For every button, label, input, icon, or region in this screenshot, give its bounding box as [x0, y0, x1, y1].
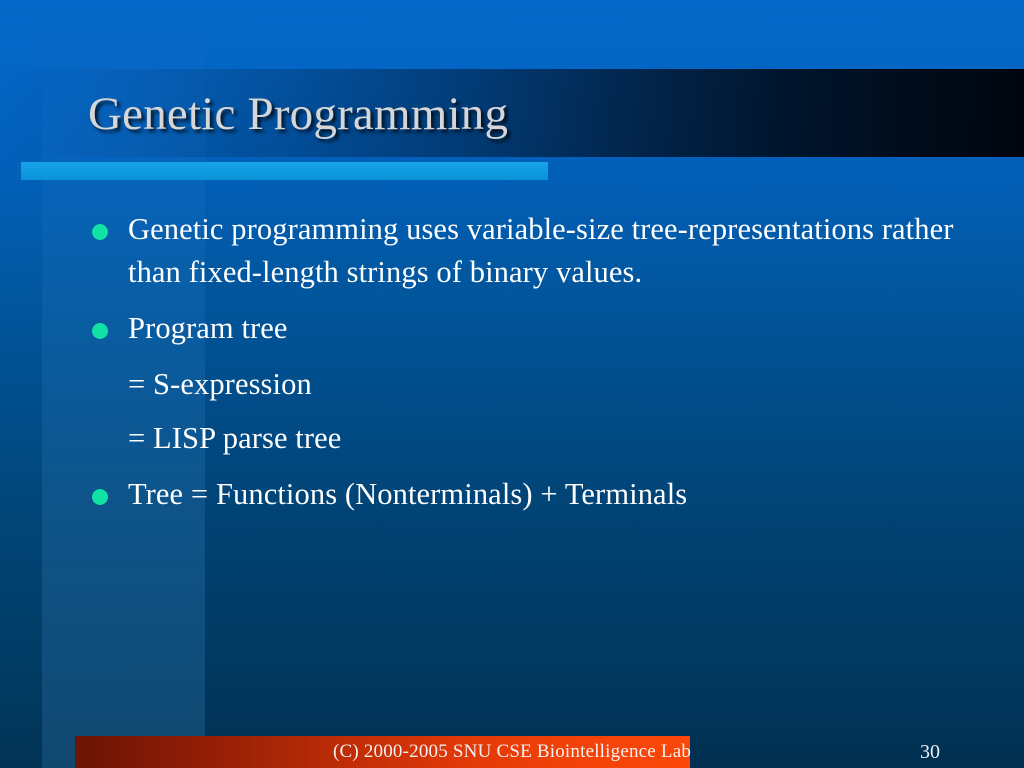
- bullet-item: Tree = Functions (Nonterminals) + Termin…: [88, 473, 968, 516]
- title-accent-bar: [21, 162, 548, 180]
- sub-line: = LISP parse tree: [88, 417, 968, 460]
- bullet-dot-icon: [92, 489, 108, 505]
- bullet-text: Genetic programming uses variable-size t…: [128, 208, 968, 294]
- footer-copyright: (C) 2000-2005 SNU CSE Biointelligence La…: [0, 739, 1024, 765]
- spacer: [88, 352, 968, 363]
- bullet-text: Program tree: [128, 307, 968, 350]
- slide-body: Genetic programming uses variable-size t…: [88, 208, 968, 518]
- bullet-dot-icon: [92, 323, 108, 339]
- spacer: [88, 296, 968, 307]
- sub-line: = S-expression: [88, 363, 968, 406]
- bullet-text: Tree = Functions (Nonterminals) + Termin…: [128, 473, 968, 516]
- page-number: 30: [880, 739, 980, 765]
- slide-title: Genetic Programming: [88, 83, 948, 145]
- spacer: [88, 406, 968, 417]
- bullet-dot-icon: [92, 224, 108, 240]
- spacer: [88, 460, 968, 473]
- bullet-item: Genetic programming uses variable-size t…: [88, 208, 968, 294]
- slide-canvas: Genetic Programming Genetic programming …: [0, 0, 1024, 768]
- bullet-item: Program tree: [88, 307, 968, 350]
